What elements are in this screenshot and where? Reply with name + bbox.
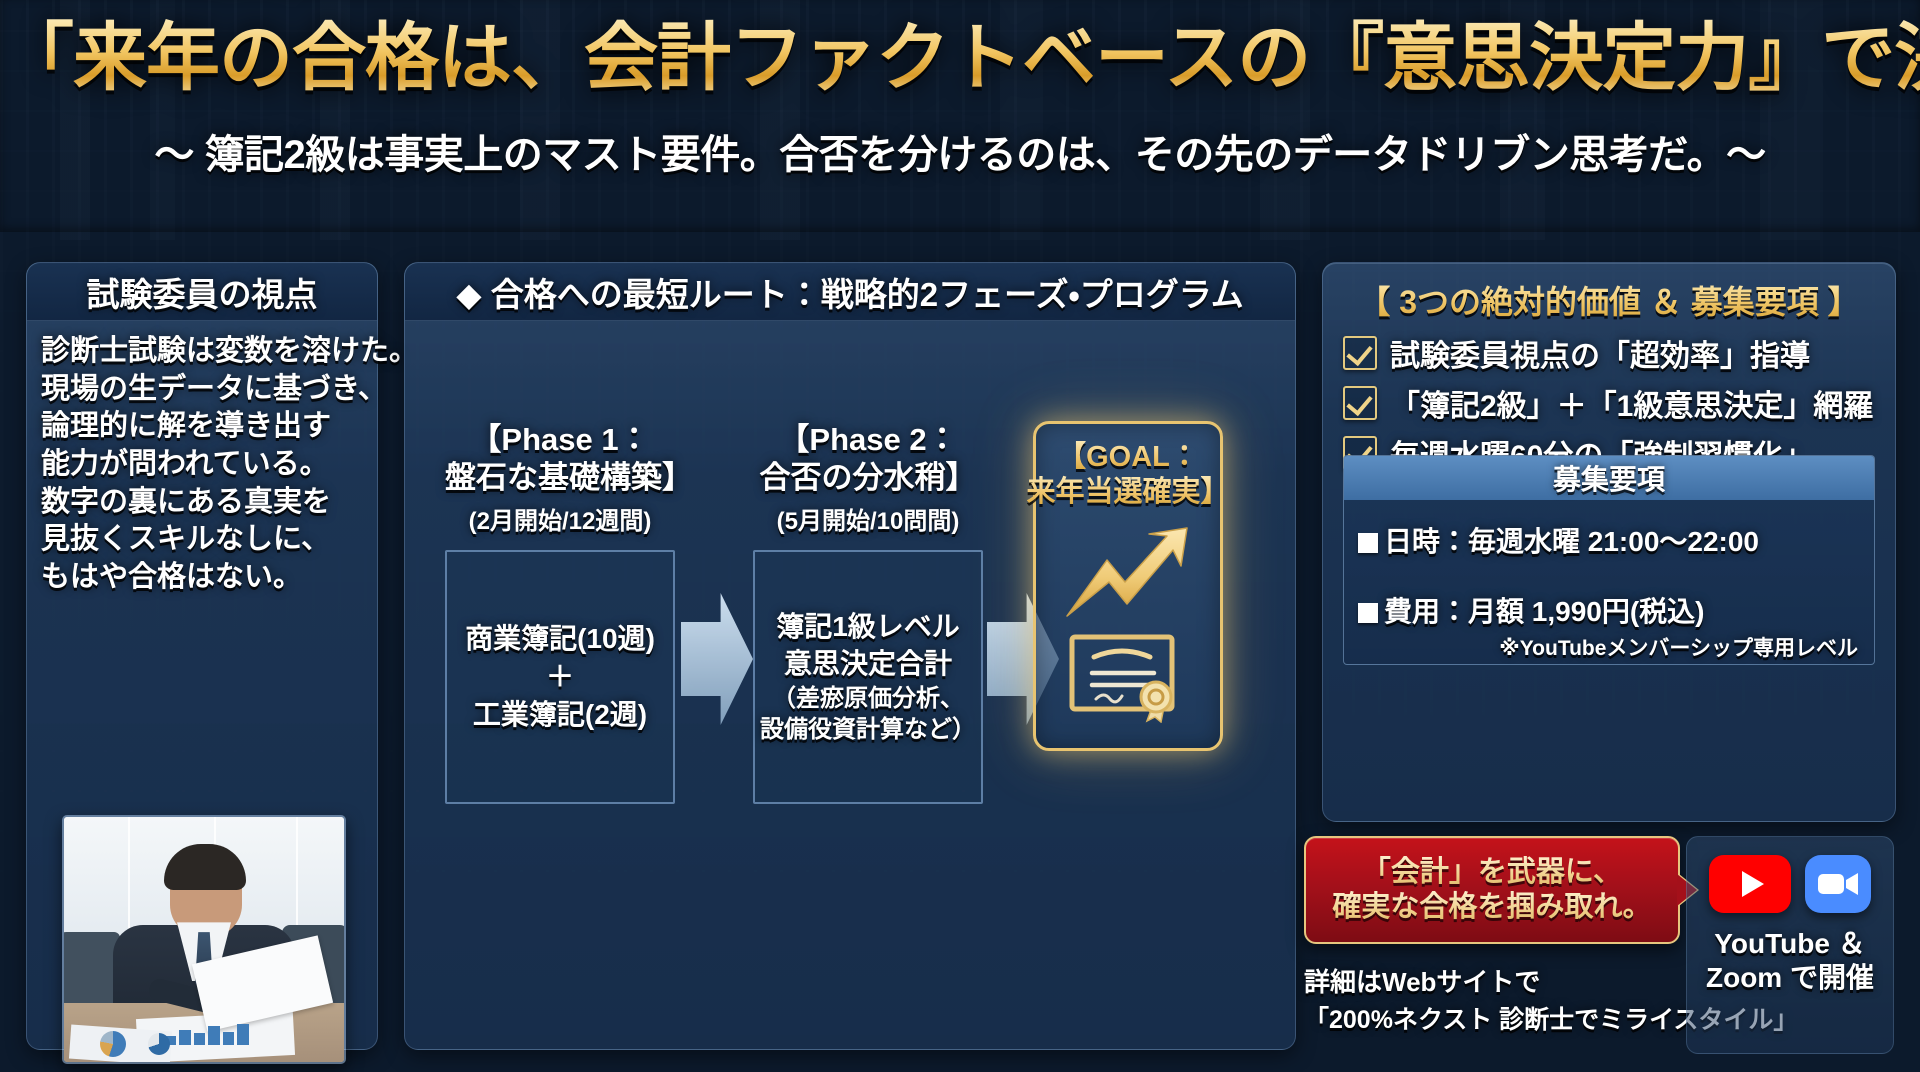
left-panel-title: 試験委員の視点	[87, 268, 318, 316]
growth-arrow-icon	[1063, 524, 1193, 625]
center-panel-header: ◆ 合格への最短ルート：戦略的2フェーズ・プログラム	[405, 263, 1295, 321]
goal-title-line2: 来年当選確実】	[1027, 475, 1230, 510]
examiner-photo	[62, 815, 346, 1064]
center-panel-title: ◆ 合格への最短ルート：戦略的2フェーズ・プログラム	[456, 268, 1243, 316]
phase-1-block: 【Phase 1： 盤石な基礎構築】 (2月開始/12週間) 商業簿記(10週)…	[445, 421, 675, 804]
right-panel-title: 【 3つの絶対的価値 ＆ 募集要項 】	[1323, 277, 1895, 323]
program-roadmap-panel: ◆ 合格への最短ルート：戦略的2フェーズ・プログラム 【Phase 1： 盤石な…	[404, 262, 1296, 1050]
bar-chart-on-paper	[165, 1023, 249, 1045]
phase-2-item: 意思決定合計	[784, 645, 952, 683]
phase-1-title-line1: 【Phase 1：	[445, 421, 675, 459]
body-line: 数字の裏にある真実を	[41, 484, 363, 522]
phase-1-item: 工業簿記(2週)	[473, 696, 647, 734]
checkbox-checked-icon	[1343, 386, 1377, 420]
square-bullet-icon	[1358, 603, 1378, 623]
left-panel-header: 試験委員の視点	[27, 263, 377, 321]
phase-2-title-line2: 合否の分水稍】	[753, 459, 983, 497]
phase-2-content-box: 簿記1級レベル 意思決定合計 （差瘀原価分析、 設備役資計算など）	[753, 550, 983, 804]
cta-line-2: 確実な合格を掴み取れ。	[1332, 890, 1651, 925]
page-title: 「来年の合格は、会計ファクトベースの『意思決定力』で決まる。」	[0, 18, 1920, 98]
value-item-2: 「簿記2級」＋「1級意思決定」網羅	[1343, 381, 1873, 425]
phase-2-detail: （差瘀原価分析、	[772, 683, 964, 714]
platform-label-line1: YouTube ＆	[1714, 927, 1865, 961]
value-item-label: 「簿記2級」＋「1級意思決定」網羅	[1390, 381, 1873, 425]
body-line: 能力が問われている。	[41, 446, 363, 484]
zoom-icon[interactable]	[1805, 855, 1871, 913]
value-item-label: 試験委員視点の「超効率」指導	[1390, 331, 1810, 375]
slide-canvas: 「来年の合格は、会計ファクトベースの『意思決定力』で決まる。」 〜 簿記2級は事…	[0, 0, 1920, 1072]
platform-label-line2: Zoom で開催	[1706, 961, 1874, 995]
photo-scene	[64, 817, 344, 1062]
phase-1-title-line2: 盤石な基礎構築】	[445, 459, 675, 497]
platform-icons	[1709, 855, 1871, 913]
phase-1-period: (2月開始/12週間)	[445, 501, 675, 536]
body-line: 論理的に解を導き出す	[41, 408, 363, 446]
body-line: 見抜くスキルなしに、	[41, 521, 363, 559]
goal-card: 【GOAL： 来年当選確実】	[1033, 421, 1223, 751]
recruitment-row-fee: 費用：月額 1,990円(税込)	[1358, 590, 1858, 630]
recruitment-row-text: 費用：月額 1,990円(税込)	[1384, 596, 1705, 627]
body-line: 診断士試験は変数を溶けた。	[41, 333, 363, 371]
phase-2-period: (5月開始/10問間)	[753, 501, 983, 536]
phase-2-title-line1: 【Phase 2：	[753, 421, 983, 459]
roadmap-stage: 【Phase 1： 盤石な基礎構築】 (2月開始/12週間) 商業簿記(10週)…	[405, 321, 1295, 1049]
pie-chart-on-paper	[148, 1033, 170, 1055]
goal-title-line1: 【GOAL：	[1057, 440, 1199, 475]
phase-2-block: 【Phase 2： 合否の分水稍】 (5月開始/10問間) 簿記1級レベル 意思…	[753, 421, 983, 804]
certificate-icon	[1066, 631, 1190, 728]
left-panel-body: 診断士試験は変数を溶けた。 現場の生データに基づき、 論理的に解を導き出す 能力…	[41, 333, 363, 597]
phase-2-item: 簿記1級レベル	[776, 608, 960, 646]
body-line: もはや合格はない。	[41, 559, 363, 597]
website-line-1: 詳細はWebサイトで	[1304, 962, 1540, 999]
phase-1-plus: ＋	[546, 658, 574, 696]
value-item-1: 試験委員視点の「超効率」指導	[1343, 331, 1810, 375]
cta-speech-bubble[interactable]: 「会計」を武器に、 確実な合格を掴み取れ。	[1304, 836, 1680, 944]
platform-box: YouTube ＆ Zoom で開催	[1686, 836, 1894, 1054]
examiner-perspective-panel: 試験委員の視点 診断士試験は変数を溶けた。 現場の生データに基づき、 論理的に解…	[26, 262, 378, 1050]
recruitment-details-box: 募集要項 日時：毎週水曜 21:00〜22:00 費用：月額 1,990円(税込…	[1343, 455, 1875, 665]
value-and-details-panel: 【 3つの絶対的価値 ＆ 募集要項 】 試験委員視点の「超効率」指導 「簿記2級…	[1322, 262, 1896, 822]
square-bullet-icon	[1358, 533, 1378, 553]
page-subtitle: 〜 簿記2級は事実上のマスト要件。合否を分けるのは、その先のデータドリブン思考だ…	[0, 122, 1920, 180]
arrow-right-icon	[681, 593, 753, 725]
body-line: 現場の生データに基づき、	[41, 371, 363, 409]
header-band: 「来年の合格は、会計ファクトベースの『意思決定力』で決まる。」 〜 簿記2級は事…	[0, 0, 1920, 232]
recruitment-title: 募集要項	[1553, 458, 1665, 498]
recruitment-note: ※YouTubeメンバーシップ専用レベル	[1358, 632, 1858, 662]
cta-line-1: 「会計」を武器に、	[1362, 855, 1622, 890]
checkbox-checked-icon	[1343, 336, 1377, 370]
phase-1-content-box: 商業簿記(10週) ＋ 工業簿記(2週)	[445, 550, 675, 804]
phase-2-detail: 設備役資計算など）	[760, 714, 976, 745]
recruitment-header: 募集要項	[1344, 456, 1874, 500]
phase-1-item: 商業簿記(10週)	[465, 620, 655, 658]
recruitment-row-datetime: 日時：毎週水曜 21:00〜22:00	[1358, 520, 1858, 560]
recruitment-row-text: 日時：毎週水曜 21:00〜22:00	[1384, 526, 1759, 557]
youtube-icon[interactable]	[1709, 855, 1791, 913]
